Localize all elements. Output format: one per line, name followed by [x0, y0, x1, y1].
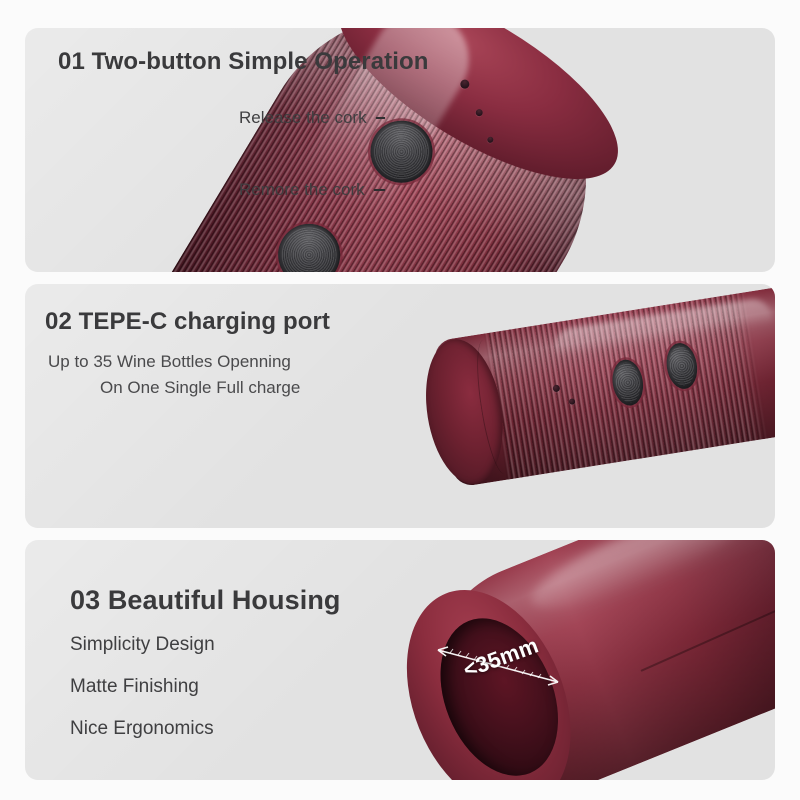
- panel-03-heading: 03 Beautiful Housing: [70, 585, 341, 616]
- wine-opener-barrel-charging: [432, 284, 775, 488]
- feature-panel-02: 02 TEPE-C charging port Up to 35 Wine Bo…: [25, 284, 775, 528]
- callout-label: Remore the cork: [239, 180, 365, 200]
- leader-line: [376, 117, 385, 119]
- panel-02-subline-1: Up to 35 Wine Bottles Openning: [48, 352, 291, 372]
- callout-label: Release the cork: [239, 108, 367, 128]
- leader-line: [374, 189, 385, 191]
- panel-03-bullet-1: Simplicity Design: [70, 634, 215, 656]
- callout-release-cork: Release the cork: [25, 108, 385, 128]
- feature-panel-01: 01 Two-button Simple Operation Release t…: [25, 28, 775, 272]
- panel-03-product-stage: [25, 540, 775, 780]
- panel-03-bullet-2: Matte Finishing: [70, 676, 199, 698]
- panel-03-bullet-3: Nice Ergonomics: [70, 718, 214, 740]
- panel-01-heading: 01 Two-button Simple Operation: [58, 48, 429, 76]
- panel-02-heading: 02 TEPE-C charging port: [45, 308, 330, 336]
- callout-remove-cork: Remore the cork: [25, 180, 385, 200]
- infographic-page: 01 Two-button Simple Operation Release t…: [0, 0, 800, 800]
- panel-02-subline-2: On One Single Full charge: [100, 378, 300, 398]
- feature-panel-03: 03 Beautiful Housing Simplicity Design M…: [25, 540, 775, 780]
